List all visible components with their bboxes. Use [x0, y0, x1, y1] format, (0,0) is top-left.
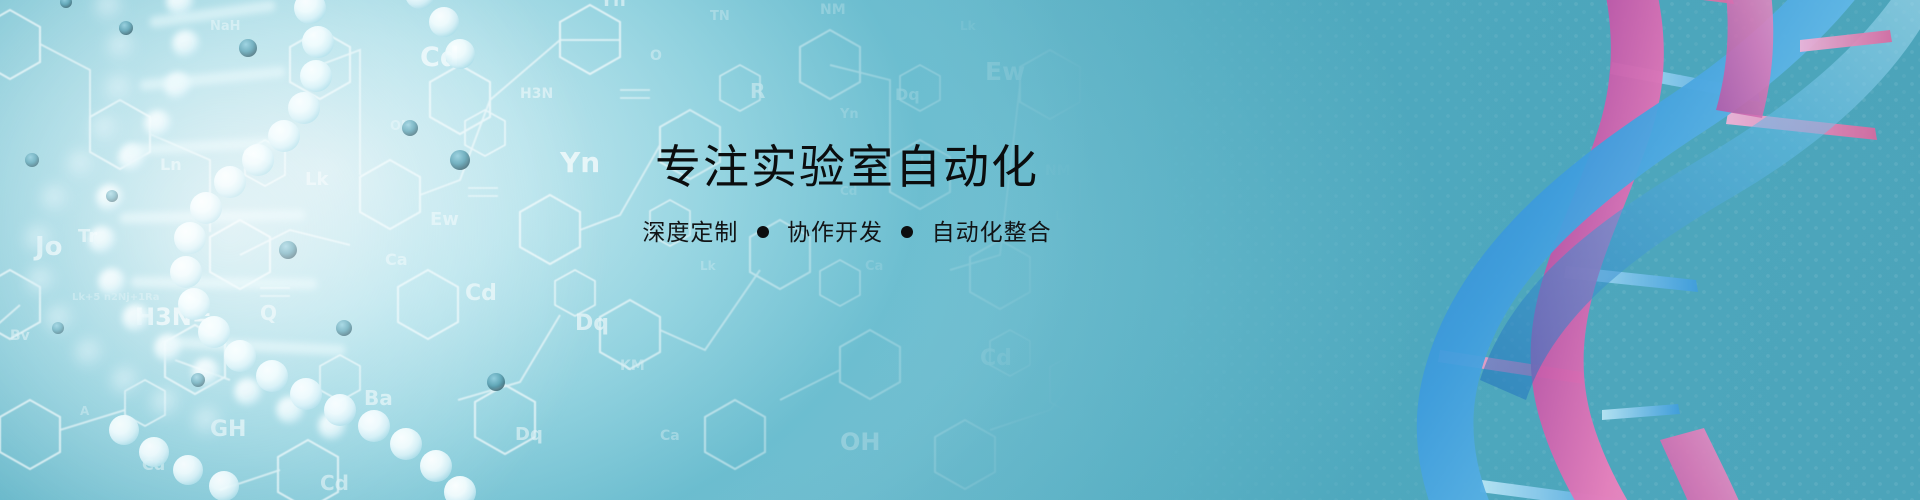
svg-text:Cd: Cd: [980, 346, 1012, 371]
page-title: 专注实验室自动化: [612, 143, 1082, 192]
svg-text:O: O: [650, 48, 662, 64]
subtitle-item-1: 深度定制: [642, 220, 738, 246]
color-dna-helix: [1330, 0, 1920, 500]
subtitle-line: 深度定制 协作开发 自动化整合: [612, 213, 1082, 247]
subtitle-item-3: 自动化整合: [932, 220, 1052, 246]
svg-text:R: R: [750, 79, 765, 103]
svg-text:Cd: Cd: [1100, 99, 1126, 120]
svg-text:Ca: Ca: [865, 259, 883, 274]
bullet-separator-icon: [901, 226, 913, 238]
svg-text:Dq: Dq: [575, 311, 609, 336]
svg-text:KM: KM: [620, 358, 645, 374]
svg-text:NM: NM: [820, 2, 846, 18]
svg-text:TN: TN: [710, 9, 730, 24]
subtitle-item-2: 协作开发: [787, 220, 883, 246]
bullet-separator-icon: [757, 226, 769, 238]
pearl-dna-helix: [0, 0, 580, 500]
hero-copy: 专注实验室自动化 深度定制 协作开发 自动化整合: [612, 143, 1082, 247]
hero-banner: Cd NaH Yn H3N Yn R TN NM Yn Dq Ew NM Cd …: [0, 0, 1920, 500]
svg-text:OH: OH: [840, 428, 881, 456]
svg-text:Ew: Ew: [985, 57, 1025, 86]
svg-text:Yn: Yn: [599, 0, 626, 11]
svg-text:Dq: Dq: [895, 85, 920, 104]
svg-text:Lk: Lk: [960, 19, 977, 33]
svg-text:Lk: Lk: [700, 259, 717, 273]
svg-text:Yn: Yn: [839, 107, 859, 122]
svg-text:Ca: Ca: [660, 428, 680, 444]
